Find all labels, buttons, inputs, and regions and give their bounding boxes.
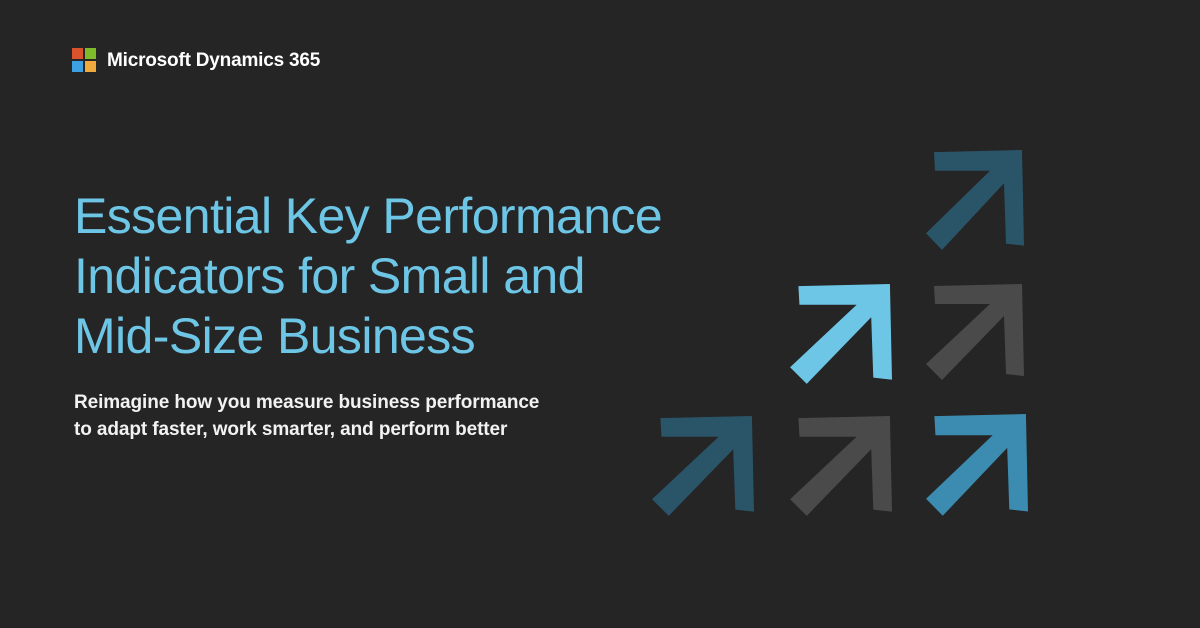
headline-line-1: Essential Key Performance [74,186,674,246]
arrow-up-right-middle-right [924,284,1024,384]
arrow-up-right-top-right [924,150,1024,254]
headline-line-3: Mid-Size Business [74,306,674,366]
page-subtitle: Reimagine how you measure business perfo… [74,389,674,443]
arrow-up-right-bottom-left [650,416,754,520]
arrow-up-right-icon [926,284,1024,380]
arrow-up-right-middle-center [788,284,892,388]
logo-tile-blue [72,61,83,72]
arrow-up-right-icon [926,414,1028,516]
brand-name: Microsoft Dynamics 365 [107,51,320,70]
page-title: Essential Key Performance Indicators for… [74,186,674,366]
logo-tile-green [85,48,96,59]
microsoft-logo [72,48,96,72]
arrow-up-right-icon [926,150,1024,250]
arrow-up-right-bottom-right [924,414,1028,520]
hero-copy: Essential Key Performance Indicators for… [74,186,674,443]
subhead-line-1: Reimagine how you measure business perfo… [74,389,674,416]
logo-tile-red [72,48,83,59]
arrow-up-right-icon [652,416,754,516]
headline-line-2: Indicators for Small and [74,246,674,306]
arrow-staircase-graphic [636,142,1036,522]
arrow-up-right-icon [790,284,892,384]
subhead-line-2: to adapt faster, work smarter, and perfo… [74,416,674,443]
brand-lockup[interactable]: Microsoft Dynamics 365 [72,46,320,74]
logo-tile-yellow [85,61,96,72]
hero-banner: Microsoft Dynamics 365 Essential Key Per… [0,0,1200,628]
arrow-up-right-bottom-center [788,416,892,520]
arrow-up-right-icon [790,416,892,516]
